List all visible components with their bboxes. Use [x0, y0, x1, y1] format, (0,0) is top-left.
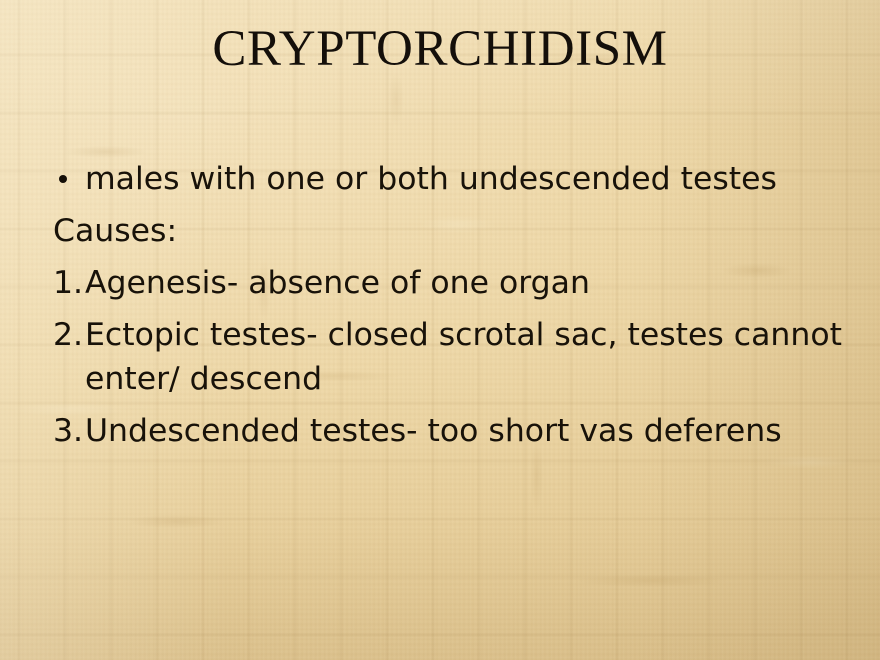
numbered-item-3-text: Undescended testes- too short vas defere…: [85, 409, 842, 453]
list-number-3: 3.: [53, 409, 86, 453]
bullet-item-text: males with one or both undescended teste…: [85, 157, 842, 201]
slide-content: CRYPTORCHIDISM males with one or both un…: [0, 0, 880, 660]
causes-heading: Causes:: [52, 209, 842, 253]
slide-body: males with one or both undescended teste…: [52, 157, 842, 453]
list-number-1: 1.: [53, 261, 86, 305]
numbered-item-1-text: Agenesis- absence of one organ: [85, 261, 842, 305]
bullet-dot-icon: [59, 175, 67, 183]
numbered-list-item-1: 1. Agenesis- absence of one organ: [52, 261, 842, 305]
slide-title: CRYPTORCHIDISM: [0, 24, 880, 75]
numbered-list-item-2: 2. Ectopic testes- closed scrotal sac, t…: [52, 313, 842, 401]
numbered-list-item-3: 3. Undescended testes- too short vas def…: [52, 409, 842, 453]
presentation-slide: CRYPTORCHIDISM males with one or both un…: [0, 0, 880, 660]
list-number-2: 2.: [53, 313, 86, 357]
bullet-list-item: males with one or both undescended teste…: [52, 157, 842, 201]
causes-heading-text: Causes:: [53, 209, 842, 253]
numbered-item-2-text: Ectopic testes- closed scrotal sac, test…: [85, 313, 842, 401]
